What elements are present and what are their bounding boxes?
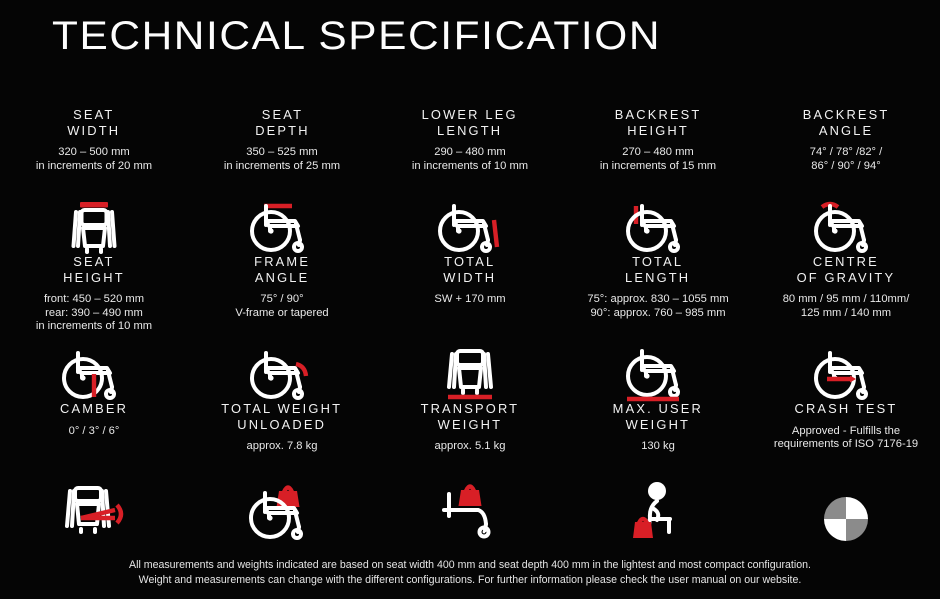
spec-values: 75°: approx. 830 – 1055 mm 90°: approx. …: [587, 293, 728, 320]
spec-row: SEAT WIDTH 320 – 500 mm in increments of…: [0, 108, 940, 255]
spec-row: CAMBER 0° / 3° / 6°: [0, 402, 940, 542]
spec-values: 75° / 90° V-frame or tapered: [235, 293, 328, 320]
spec-row: SEAT HEIGHT front: 450 – 520 mm rear: 39…: [0, 255, 940, 402]
spec-cell-lower-leg-length: LOWER LEG LENGTH 290 – 480 mm in increme…: [376, 108, 564, 255]
spec-cell-crash-test: CRASH TEST Approved - Fulfills the requi…: [752, 402, 940, 542]
spec-values: 0° / 3° / 6°: [69, 425, 120, 439]
spec-heading: CRASH TEST: [795, 402, 898, 418]
wheelchair-side-total-length-icon: [564, 344, 752, 402]
wheelchair-side-seat-height-icon: [0, 344, 188, 402]
spec-heading: TOTAL LENGTH: [625, 255, 690, 286]
footer-disclaimer: All measurements and weights indicated a…: [0, 558, 940, 587]
wheelchair-front-camber-icon: [0, 478, 188, 542]
spec-cell-seat-width: SEAT WIDTH 320 – 500 mm in increments of…: [0, 108, 188, 255]
wheelchair-side-seat-depth-icon: [188, 197, 376, 255]
spec-values: approx. 5.1 kg: [435, 440, 506, 454]
wheelchair-side-backrest-angle-icon: [752, 197, 940, 255]
wheelchair-side-lower-leg-length-icon: [376, 197, 564, 255]
spec-cell-centre-of-gravity: CENTRE OF GRAVITY 80 mm / 95 mm / 110mm/…: [752, 255, 940, 402]
spec-cell-total-weight-unloaded: TOTAL WEIGHT UNLOADED approx. 7.8 kg: [188, 402, 376, 542]
crash-test-quadrant-circle-icon: [752, 478, 940, 542]
spec-cell-transport-weight: TRANSPORT WEIGHT approx. 5.1 kg: [376, 402, 564, 542]
spec-cell-total-width: TOTAL WIDTH SW + 170 mm: [376, 255, 564, 402]
wheelchair-front-total-width-icon: [376, 344, 564, 402]
spec-cell-backrest-angle: BACKREST ANGLE 74° / 78° /82° / 86° / 90…: [752, 108, 940, 255]
spec-values: approx. 7.8 kg: [247, 440, 318, 454]
spec-heading: TRANSPORT WEIGHT: [421, 402, 520, 433]
wheelchair-front-seat-width-icon: [0, 197, 188, 255]
spec-heading: BACKREST ANGLE: [803, 108, 890, 139]
spec-heading: SEAT HEIGHT: [63, 255, 125, 286]
wheelchair-side-centre-of-gravity-icon: [752, 344, 940, 402]
spec-values: Approved - Fulfills the requirements of …: [774, 425, 918, 452]
spec-heading: TOTAL WEIGHT UNLOADED: [222, 402, 343, 433]
wheelchair-frame-transport-weight-icon: [376, 478, 564, 542]
spec-values: 270 – 480 mm in increments of 15 mm: [600, 146, 716, 173]
spec-cell-total-length: TOTAL LENGTH 75°: approx. 830 – 1055 mm …: [564, 255, 752, 402]
specification-grid: SEAT WIDTH 320 – 500 mm in increments of…: [0, 108, 940, 542]
spec-cell-seat-height: SEAT HEIGHT front: 450 – 520 mm rear: 39…: [0, 255, 188, 402]
spec-heading: LOWER LEG LENGTH: [422, 108, 518, 139]
spec-heading: SEAT DEPTH: [255, 108, 309, 139]
spec-heading: SEAT WIDTH: [67, 108, 120, 139]
wheelchair-side-total-weight-icon: [188, 478, 376, 542]
spec-heading: CENTRE OF GRAVITY: [797, 255, 896, 286]
spec-cell-seat-depth: SEAT DEPTH 350 – 525 mm in increments of…: [188, 108, 376, 255]
page-title: TECHNICAL SPECIFICATION: [52, 14, 661, 59]
technical-specification-sheet: TECHNICAL SPECIFICATION SEAT WIDTH 320 –…: [0, 0, 940, 599]
spec-cell-camber: CAMBER 0° / 3° / 6°: [0, 402, 188, 542]
seated-person-max-user-weight-icon: [564, 478, 752, 542]
spec-values: front: 450 – 520 mm rear: 390 – 490 mm i…: [36, 293, 152, 334]
spec-cell-frame-angle: FRAME ANGLE 75° / 90° V-frame or tapered: [188, 255, 376, 402]
spec-heading: TOTAL WIDTH: [443, 255, 496, 286]
spec-heading: MAX. USER WEIGHT: [613, 402, 703, 433]
spec-heading: FRAME ANGLE: [254, 255, 310, 286]
spec-values: 130 kg: [641, 440, 675, 454]
spec-values: 74° / 78° /82° / 86° / 90° / 94°: [810, 146, 883, 173]
wheelchair-side-frame-angle-icon: [188, 344, 376, 402]
spec-cell-backrest-height: BACKREST HEIGHT 270 – 480 mm in incremen…: [564, 108, 752, 255]
spec-values: 80 mm / 95 mm / 110mm/ 125 mm / 140 mm: [783, 293, 910, 320]
wheelchair-side-backrest-height-icon: [564, 197, 752, 255]
spec-heading: BACKREST HEIGHT: [615, 108, 702, 139]
spec-heading: CAMBER: [60, 402, 128, 418]
spec-cell-max-user-weight: MAX. USER WEIGHT 130 kg: [564, 402, 752, 542]
spec-values: 350 – 525 mm in increments of 25 mm: [224, 146, 340, 173]
spec-values: 320 – 500 mm in increments of 20 mm: [36, 146, 152, 173]
spec-values: 290 – 480 mm in increments of 10 mm: [412, 146, 528, 173]
spec-values: SW + 170 mm: [434, 293, 505, 307]
